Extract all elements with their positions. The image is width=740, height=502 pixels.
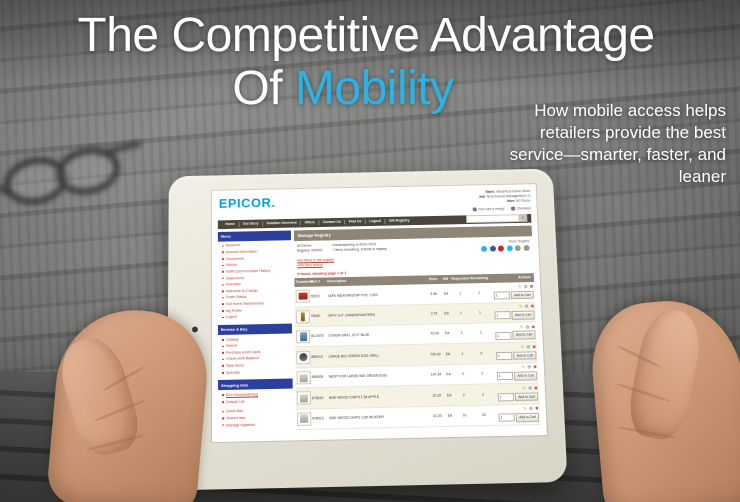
cell-requested: 2: [453, 364, 473, 385]
cart-icon: [472, 207, 476, 211]
settings-gear-icon[interactable]: ⚙: [524, 285, 528, 289]
search-icon[interactable]: ⚲: [519, 215, 527, 223]
cell-description: JIFFY 3-4'' JOINER/PAINTERS: [327, 304, 427, 326]
quantity-input[interactable]: 1: [494, 311, 510, 319]
nav-item-contact-us[interactable]: Contact Us: [319, 220, 344, 225]
cell-um: EA: [443, 364, 454, 385]
cell-requested: 1: [453, 344, 473, 365]
cell-remaining: 2: [473, 384, 493, 405]
headline-line-2-prefix: Of: [232, 62, 295, 115]
user-value: MJ Demo: [516, 199, 530, 203]
edit-icon[interactable]: ✎: [523, 407, 527, 412]
cell-remaining: 1: [470, 303, 490, 324]
nav-item-logout[interactable]: Logout: [366, 219, 385, 224]
epicor-logo-text: EPICOR: [219, 195, 272, 210]
left-hand: [8, 305, 238, 502]
cell-price: 10.20: [429, 406, 445, 427]
nest-thumb: [297, 371, 311, 384]
nav-item-home[interactable]: Home: [222, 222, 239, 227]
add-to-cart-button[interactable]: Add to Cart: [514, 372, 537, 381]
job-value: NGS Events Management: [487, 194, 526, 199]
edit-icon[interactable]: ✎: [521, 345, 525, 349]
settings-gear-icon[interactable]: ⚙: [527, 366, 531, 371]
quantity-input[interactable]: 1: [498, 414, 515, 422]
cell-price: 799.00: [428, 344, 444, 365]
cell-price: 107.34: [428, 365, 444, 386]
add-to-cart-button[interactable]: Add to Cart: [512, 311, 535, 320]
user-line: User: MJ Demo: [472, 199, 531, 205]
google-plus-icon[interactable]: [507, 245, 513, 251]
quantity-input[interactable]: 1: [493, 291, 509, 299]
delete-icon[interactable]: ✖: [530, 305, 534, 309]
cell-price: 2.75: [426, 304, 442, 324]
cell-um: EA: [444, 385, 455, 406]
cell-actions: ✎⚙✖ 1Add to Cart: [490, 322, 537, 343]
cart-status-text: Your cart is empty: [478, 207, 505, 211]
eyeglasses-icon: [0, 140, 144, 220]
quantity-input[interactable]: 1: [495, 332, 511, 340]
grill-thumb: [296, 351, 310, 364]
nav-item-our-story[interactable]: Our Story: [239, 222, 262, 227]
job-label: Job:: [479, 195, 486, 199]
print-icon[interactable]: [524, 245, 530, 251]
cell-thumbnail: [295, 327, 310, 348]
cell-thumbnail: [296, 388, 311, 409]
cell-remaining: 2: [472, 364, 492, 385]
cell-description: COVER GRILL 22.5'' BLUE: [327, 324, 428, 346]
brochure-cover: The Competitive Advantage Of Mobility Ho…: [0, 0, 740, 502]
registry-owner-block: MJ Demo Registry: 000002: [297, 243, 323, 257]
add-to-cart-button[interactable]: Add to Cart: [513, 331, 536, 340]
quantity-input[interactable]: 1: [497, 372, 513, 380]
registry-number: Registry: 000002: [297, 248, 322, 253]
cell-actions: ✎⚙✖ 1Add to Cart: [493, 404, 540, 426]
edit-icon[interactable]: ✎: [518, 285, 522, 289]
blue-grill-thumb: [296, 330, 310, 343]
delete-icon[interactable]: ✖: [530, 285, 534, 289]
right-hand: [535, 291, 740, 502]
tablet-screen: EPICOR. Store: eBusiness Demo Store Job:…: [212, 184, 547, 442]
red-tape-thumb: [296, 290, 310, 303]
cell-actions: ✎⚙✖ 1Add to Cart: [488, 282, 535, 303]
cell-part: 82-0075: [310, 326, 327, 347]
cart-checkout-row: Your cart is empty Checkout: [472, 206, 531, 212]
share-registry: Share Registry: [479, 239, 530, 253]
job-expand-link[interactable]: [+]: [526, 194, 530, 198]
cell-remaining: 0: [472, 343, 492, 364]
settings-gear-icon[interactable]: ⚙: [529, 407, 533, 412]
col-part: Part #: [309, 278, 326, 287]
cell-part: 878010: [311, 388, 328, 409]
cell-thumbnail: [295, 287, 310, 307]
cell-um: EA: [445, 406, 456, 427]
cell-price: 10.20: [429, 385, 445, 406]
cell-thumbnail: [296, 409, 311, 430]
store-label: Store:: [485, 190, 495, 194]
col-price: Price: [426, 276, 441, 285]
cell-thumbnail: [295, 367, 310, 388]
cart-status[interactable]: Your cart is empty: [472, 207, 504, 213]
search-input[interactable]: [466, 215, 519, 224]
quantity-input[interactable]: 1: [496, 352, 512, 360]
sidebar-section-title-menu: Menu: [218, 230, 291, 241]
cell-price: 42.00: [427, 324, 443, 345]
cell-part: 878013: [311, 408, 329, 429]
settings-gear-icon[interactable]: ⚙: [525, 305, 529, 309]
col-remaining: Remaining: [469, 275, 488, 284]
checkout-icon: [511, 206, 515, 210]
chips-thumb: [297, 412, 311, 426]
store-value: eBusiness Demo Store: [496, 189, 530, 194]
cell-um: EA: [443, 344, 454, 365]
twitter-icon[interactable]: [481, 245, 487, 251]
col-requested: Requested: [450, 275, 469, 284]
share-icon-row: [479, 245, 529, 254]
settings-gear-icon[interactable]: ⚙: [526, 345, 530, 349]
pinterest-icon[interactable]: [498, 245, 504, 251]
cell-um: EA: [441, 284, 452, 304]
add-to-cart-button[interactable]: Add to Cart: [513, 351, 536, 360]
cell-um: EA: [441, 304, 452, 324]
cell-actions: ✎⚙✖ 1Add to Cart: [491, 363, 538, 384]
table-row[interactable]: 878013 BGE WOOD CHIPS 1.5# HICKORY 10.20…: [296, 404, 540, 430]
checkout-link[interactable]: Checkout: [511, 206, 531, 211]
cell-part: 78000: [310, 306, 327, 327]
cell-part: 869010: [310, 347, 327, 368]
cell-thumbnail: [295, 347, 310, 368]
cell-description: BGE WOOD CHIPS 1.5# APPLE: [328, 385, 429, 408]
col-um: UM: [440, 275, 450, 284]
share-registry-label: Share Registry: [479, 239, 529, 244]
main-content: Manage Registry MJ Demo Registry: 000002…: [294, 226, 541, 432]
wood-broom-thumb: [296, 310, 310, 323]
cell-requested: 10: [455, 405, 475, 426]
checkout-text: Checkout: [517, 206, 531, 210]
cell-description: BGE WOOD CHIPS 1.5# HICKORY: [328, 406, 430, 429]
cell-thumbnail: [295, 306, 310, 327]
cell-actions: ✎⚙✖ 1Add to Cart: [491, 342, 538, 363]
quantity-input[interactable]: 1: [497, 393, 513, 401]
edit-icon[interactable]: ✎: [521, 366, 525, 371]
account-info: Store: eBusiness Demo Store Job: NGS Eve…: [472, 189, 531, 212]
cell-part: 869008: [311, 367, 328, 388]
cell-um: EA: [442, 324, 453, 345]
nav-item-offers[interactable]: Offers: [301, 220, 318, 225]
chips-thumb: [297, 392, 311, 405]
cell-part: 02021: [309, 286, 326, 306]
headline-accent-word: Mobility: [295, 62, 454, 115]
cell-requested: 2: [454, 385, 474, 406]
user-label: User:: [507, 199, 516, 203]
nav-item-solution-overview[interactable]: Solution Overview: [263, 221, 300, 226]
registry-status: 7 items remaining, 9 items in registry: [332, 247, 387, 253]
add-to-cart-button[interactable]: Add to Cart: [511, 290, 534, 299]
email-icon[interactable]: [515, 245, 521, 251]
settings-gear-icon[interactable]: ⚙: [528, 386, 532, 391]
cell-requested: 1: [451, 303, 471, 324]
cell-description: NEST FOR LARGE BIG GREEN EGG: [328, 365, 429, 388]
edit-icon[interactable]: ✎: [522, 386, 526, 391]
cell-remaining: 1: [470, 283, 490, 303]
settings-gear-icon[interactable]: ⚙: [525, 325, 529, 329]
cell-description: LARGE BIG GREEN EGG GRILL: [327, 345, 428, 368]
cell-requested: 1: [451, 284, 471, 304]
registry-event-block: Housewarming on NOV 2013 7 items remaini…: [332, 242, 387, 256]
col-thumbnail: Thumbnail: [294, 278, 309, 287]
epicor-web-app: EPICOR. Store: eBusiness Demo Store Job:…: [212, 184, 547, 433]
edit-icon[interactable]: ✎: [519, 305, 523, 309]
cell-requested: 1: [452, 323, 472, 344]
nav-item-find-us[interactable]: Find Us: [345, 219, 365, 224]
nav-item-gift-registry[interactable]: Gift Registry: [385, 218, 413, 223]
cell-remaining: 10: [474, 405, 494, 426]
cell-actions: ✎⚙✖ 1Add to Cart: [492, 383, 539, 405]
headline-line-1: The Competitive Advantage: [0, 10, 732, 62]
cell-price: 3.48: [426, 284, 442, 304]
cell-actions: ✎⚙✖ 1Add to Cart: [489, 302, 536, 323]
registry-items-table: Thumbnail Part # Description Price UM Re…: [294, 274, 540, 430]
cell-description: TAPE WEATHRSTRP PVC 1.520: [326, 284, 426, 306]
facebook-icon[interactable]: [490, 245, 496, 251]
epicor-logo[interactable]: EPICOR.: [219, 194, 276, 212]
cell-remaining: 1: [471, 323, 491, 344]
edit-icon[interactable]: ✎: [520, 325, 524, 329]
